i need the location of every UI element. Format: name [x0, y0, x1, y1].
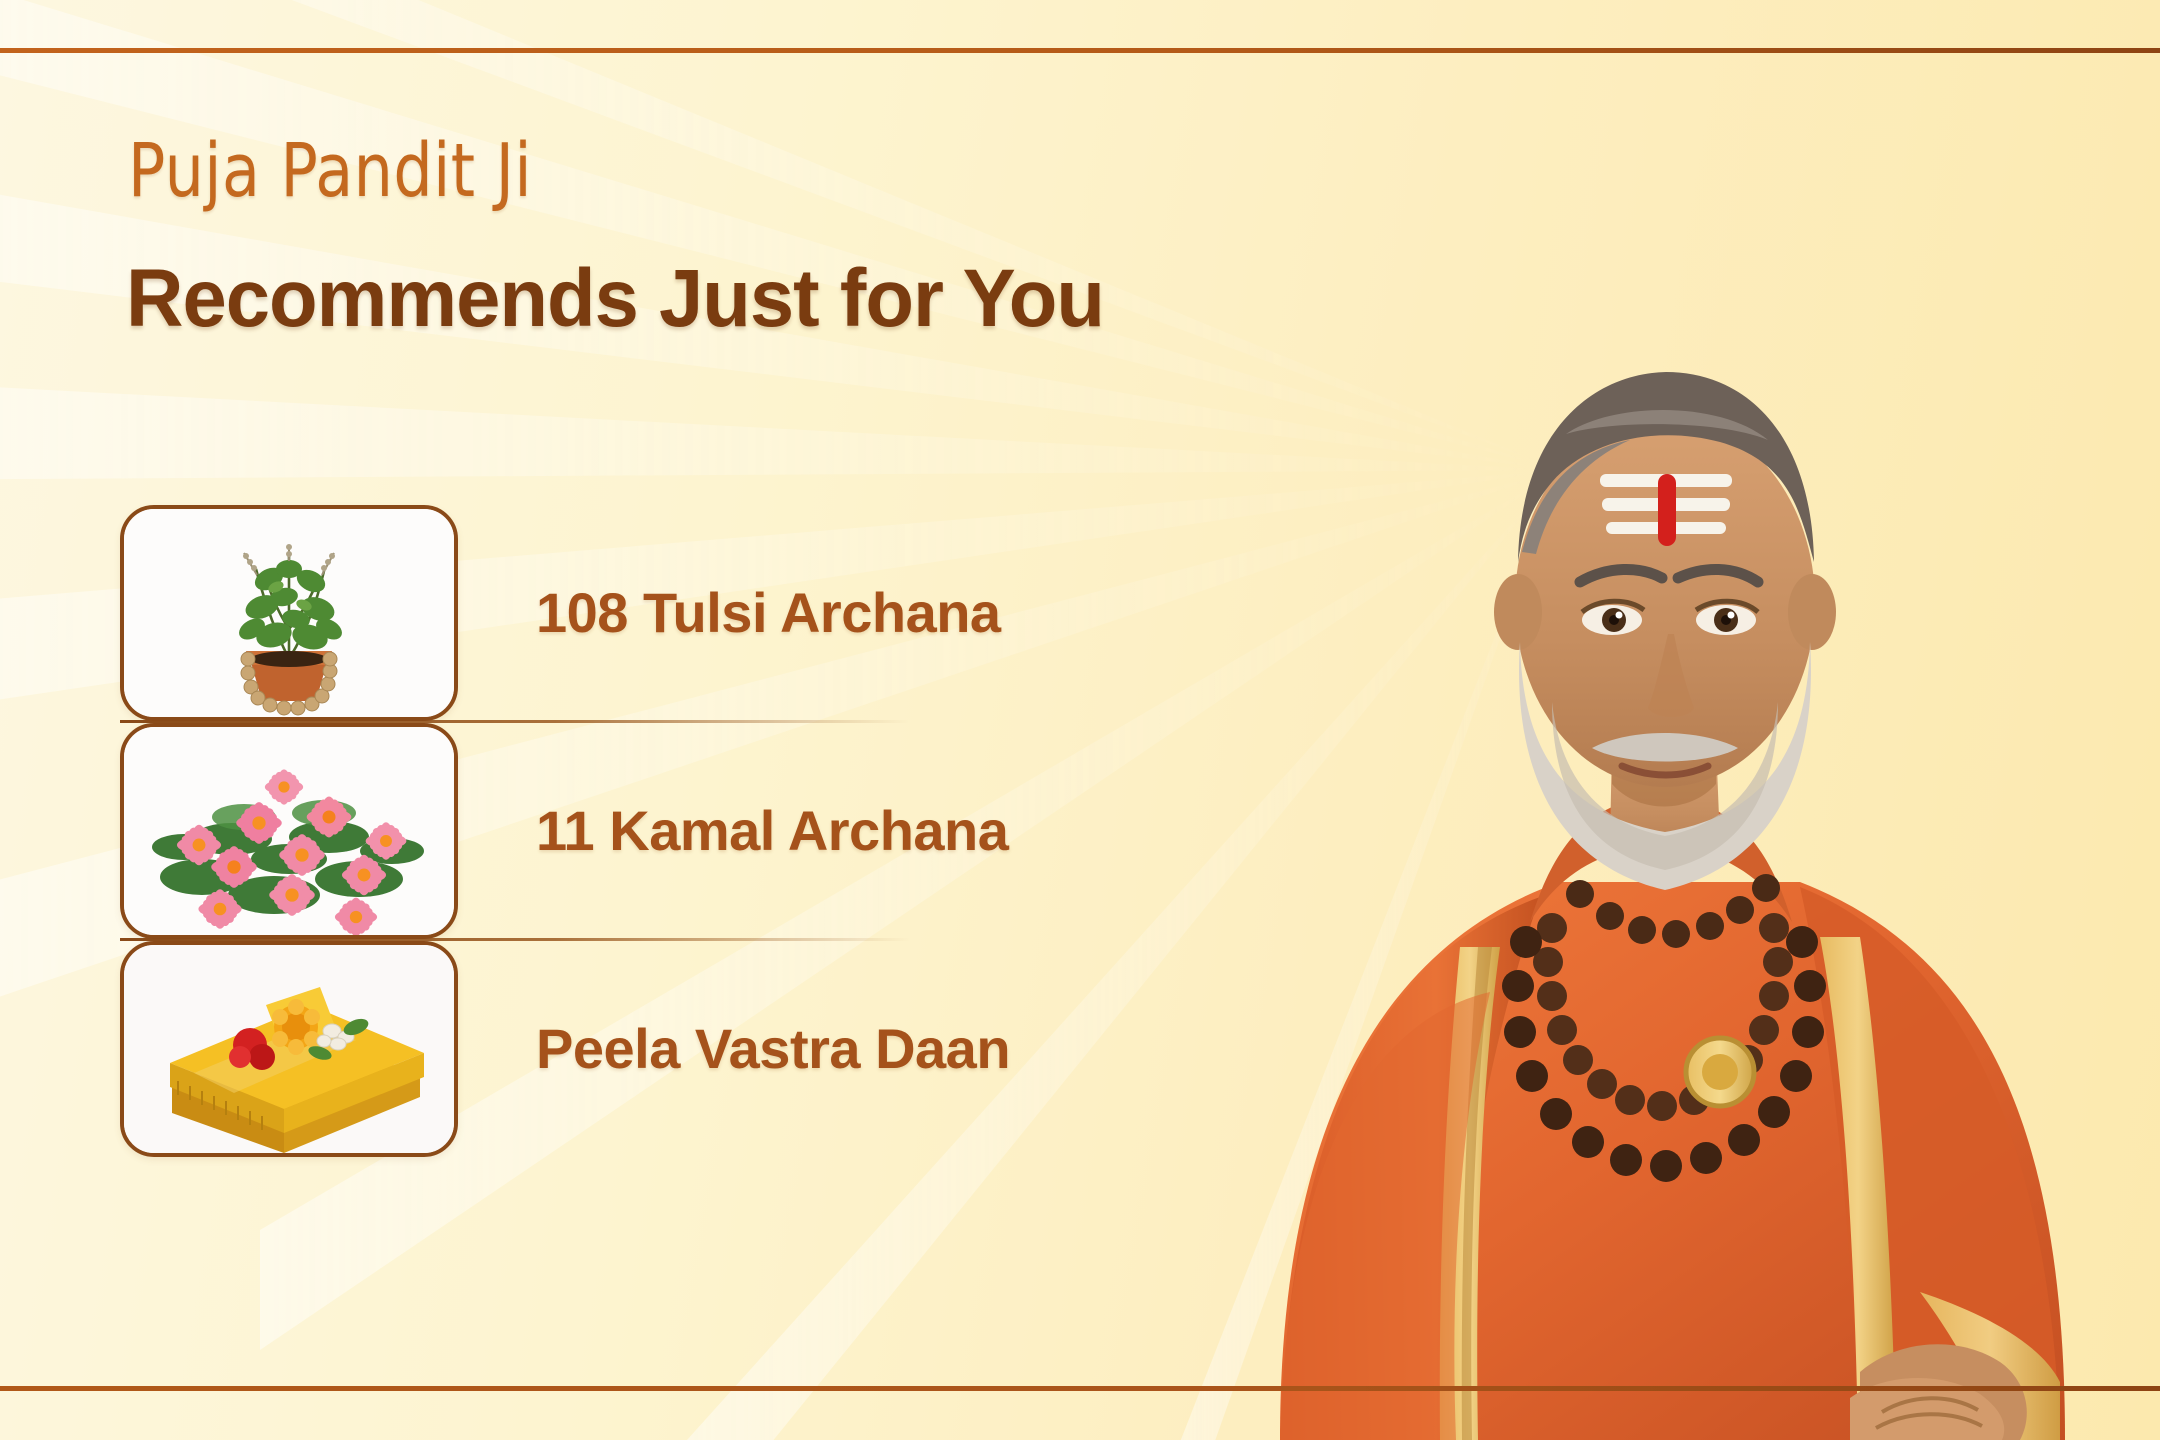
lotus-flowers-icon [124, 727, 454, 935]
yellow-cloth-icon [124, 945, 454, 1153]
recommended-items-list: 108 Tulsi Archana [120, 505, 1180, 1156]
recommendation-banner: Puja Pandit Ji Recommends Just for You [0, 0, 2160, 1440]
pandit-portrait [1160, 42, 2160, 1440]
tulsi-plant-thumbnail [120, 505, 458, 721]
page-title: Recommends Just for You [126, 258, 1104, 340]
list-item-label: 11 Kamal Archana [536, 798, 1008, 863]
list-item-label: 108 Tulsi Archana [536, 580, 1001, 645]
list-item-label: Peela Vastra Daan [536, 1016, 1010, 1081]
yellow-cloth-thumbnail [120, 941, 458, 1157]
eyebrow-title: Puja Pandit Ji [128, 134, 532, 208]
bottom-divider-rule [0, 1386, 2160, 1391]
tulsi-plant-icon [124, 509, 454, 717]
list-item[interactable]: 108 Tulsi Archana [120, 505, 1180, 720]
list-item[interactable]: 11 Kamal Archana [120, 723, 1180, 938]
banner-left-content: Puja Pandit Ji Recommends Just for You [0, 0, 1230, 1440]
lotus-flowers-thumbnail [120, 723, 458, 939]
list-item[interactable]: Peela Vastra Daan [120, 941, 1180, 1156]
top-divider-rule [0, 48, 2160, 53]
